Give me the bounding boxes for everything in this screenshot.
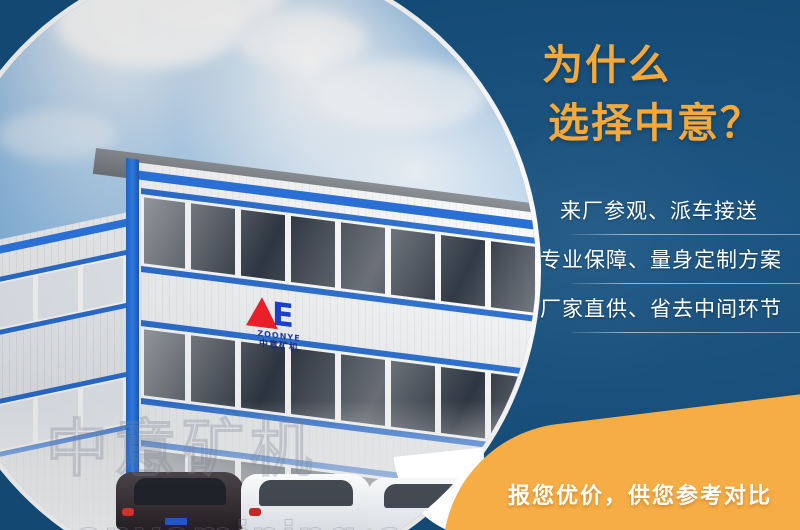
car bbox=[368, 478, 484, 530]
license-plate bbox=[165, 518, 187, 525]
promo-banner: E ZOONYE 中意矿机 bbox=[0, 0, 800, 530]
car-window bbox=[384, 484, 468, 508]
separator bbox=[572, 283, 800, 284]
separator bbox=[572, 234, 800, 235]
tail-lamp-icon bbox=[249, 508, 261, 516]
footer-banner-text: 报您优价，供您参考对比 bbox=[508, 478, 800, 510]
list-item: 来厂参观、派车接送 bbox=[528, 196, 800, 235]
headline-line-2: 选择中意？ bbox=[548, 94, 792, 152]
benefit-text: 厂家直供、省去中间环节 bbox=[528, 294, 800, 324]
list-item: 厂家直供、省去中间环节 bbox=[528, 294, 800, 333]
company-wall-logo: E ZOONYE 中意矿机 bbox=[236, 292, 322, 369]
separator bbox=[572, 332, 800, 333]
benefit-list: 来厂参观、派车接送 专业保障、量身定制方案 厂家直供、省去中间环节 bbox=[528, 196, 800, 343]
car bbox=[241, 474, 371, 530]
benefit-text: 来厂参观、派车接送 bbox=[528, 196, 800, 226]
tail-lamp-icon bbox=[122, 508, 134, 516]
car bbox=[116, 472, 244, 530]
car-window bbox=[134, 478, 226, 505]
headline: 为什么 选择中意？ bbox=[542, 36, 792, 152]
benefit-text: 专业保障、量身定制方案 bbox=[528, 245, 800, 275]
list-item: 专业保障、量身定制方案 bbox=[528, 245, 800, 284]
logo-letter: E bbox=[272, 299, 294, 332]
headline-line-1: 为什么 bbox=[542, 41, 671, 89]
cloud-icon bbox=[236, 12, 366, 68]
car-window bbox=[259, 480, 353, 506]
parked-cars bbox=[86, 456, 506, 530]
